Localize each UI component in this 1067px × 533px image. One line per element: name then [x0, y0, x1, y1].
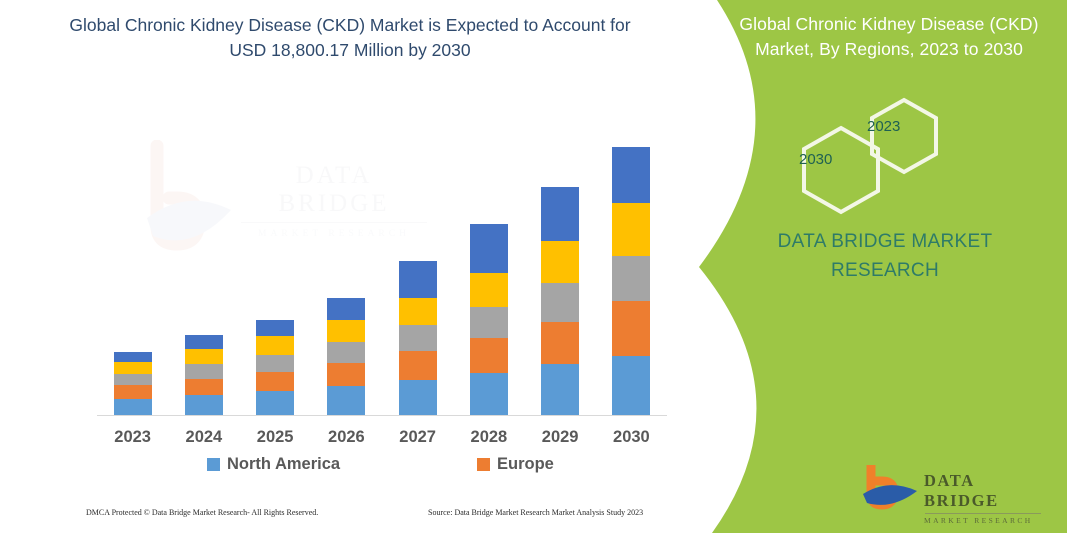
panel-brand-text: DATA BRIDGE MARKET RESEARCH	[725, 228, 1045, 285]
bar-segment	[327, 298, 365, 320]
bar-segment	[612, 256, 650, 301]
bar-segment	[470, 338, 508, 373]
bar-segment	[612, 301, 650, 356]
bar-segment	[612, 147, 650, 203]
bar-segment	[256, 336, 294, 354]
x-axis-label-2024: 2024	[168, 428, 240, 447]
stacked-bar-plot	[97, 128, 667, 416]
chart-legend: North AmericaEurope	[97, 455, 667, 481]
bar-segment	[114, 385, 152, 398]
panel-title: Global Chronic Kidney Disease (CKD) Mark…	[729, 12, 1049, 62]
footer-copyright: DMCA Protected © Data Bridge Market Rese…	[86, 508, 318, 517]
bar-segment	[185, 335, 223, 348]
bar-column-2029	[541, 187, 579, 416]
bar-segment	[327, 342, 365, 363]
bar-segment	[185, 364, 223, 378]
bar-segment	[114, 374, 152, 386]
bar-segment	[541, 241, 579, 282]
bar-segment	[470, 273, 508, 307]
bar-segment	[185, 349, 223, 364]
footer-source: Source: Data Bridge Market Research Mark…	[428, 508, 643, 517]
bar-segment	[470, 307, 508, 339]
bar-segment	[114, 362, 152, 374]
brand-logo-subtitle: MARKET RESEARCH	[924, 516, 1052, 525]
bar-segment	[327, 320, 365, 342]
bar-segment	[612, 203, 650, 256]
legend-label: North America	[227, 455, 340, 474]
bar-column-2030	[612, 147, 650, 416]
bar-segment	[114, 399, 152, 416]
bar-segment	[470, 373, 508, 416]
brand-logo-mark-icon	[862, 465, 920, 515]
x-axis-label-2027: 2027	[382, 428, 454, 447]
x-axis-label-2025: 2025	[239, 428, 311, 447]
bar-segment	[327, 363, 365, 386]
bar-segment	[185, 379, 223, 395]
bar-segment	[327, 386, 365, 416]
bar-column-2023	[114, 352, 152, 416]
bar-segment	[256, 391, 294, 416]
bar-segment	[541, 322, 579, 364]
legend-item-north-america[interactable]: North America	[207, 455, 340, 474]
chart-headline: Global Chronic Kidney Disease (CKD) Mark…	[60, 13, 640, 64]
bar-column-2025	[256, 320, 294, 416]
bar-segment	[114, 352, 152, 363]
green-side-panel: Global Chronic Kidney Disease (CKD) Mark…	[677, 0, 1067, 533]
x-axis-label-2030: 2030	[595, 428, 667, 447]
bar-column-2024	[185, 335, 223, 416]
brand-logo-divider	[925, 513, 1041, 514]
x-axis-label-2028: 2028	[453, 428, 525, 447]
brand-logo-title: DATA BRIDGE	[924, 471, 1052, 511]
bar-segment	[399, 380, 437, 416]
bar-segment	[185, 395, 223, 416]
bar-segment	[541, 283, 579, 322]
bar-segment	[399, 325, 437, 351]
bar-segment	[399, 351, 437, 380]
x-axis-line	[97, 415, 667, 416]
x-axis-labels: 20232024202520262027202820292030	[97, 428, 667, 454]
hex-badge-group: 2030 2023	[787, 96, 987, 196]
bar-segment	[256, 372, 294, 391]
x-axis-label-2029: 2029	[524, 428, 596, 447]
bar-column-2027	[399, 261, 437, 416]
bar-column-2028	[470, 224, 508, 416]
bar-segment	[399, 298, 437, 325]
chart-panel: Global Chronic Kidney Disease (CKD) Mark…	[0, 0, 700, 533]
hexagon-outline-icon	[867, 96, 941, 176]
x-axis-label-2023: 2023	[97, 428, 169, 447]
bar-column-2026	[327, 298, 365, 416]
bar-segment	[612, 356, 650, 416]
x-axis-label-2026: 2026	[310, 428, 382, 447]
bar-segment	[541, 364, 579, 416]
bar-segment	[399, 261, 437, 297]
legend-swatch-icon	[477, 458, 490, 471]
legend-swatch-icon	[207, 458, 220, 471]
brand-logo: DATA BRIDGE MARKET RESEARCH	[862, 465, 1052, 517]
bar-segment	[256, 320, 294, 336]
brand-logo-text: DATA BRIDGE MARKET RESEARCH	[924, 471, 1052, 525]
bar-segment	[541, 187, 579, 242]
legend-label: Europe	[497, 455, 554, 474]
legend-item-europe[interactable]: Europe	[477, 455, 554, 474]
bar-segment	[256, 355, 294, 372]
bar-segment	[470, 224, 508, 273]
